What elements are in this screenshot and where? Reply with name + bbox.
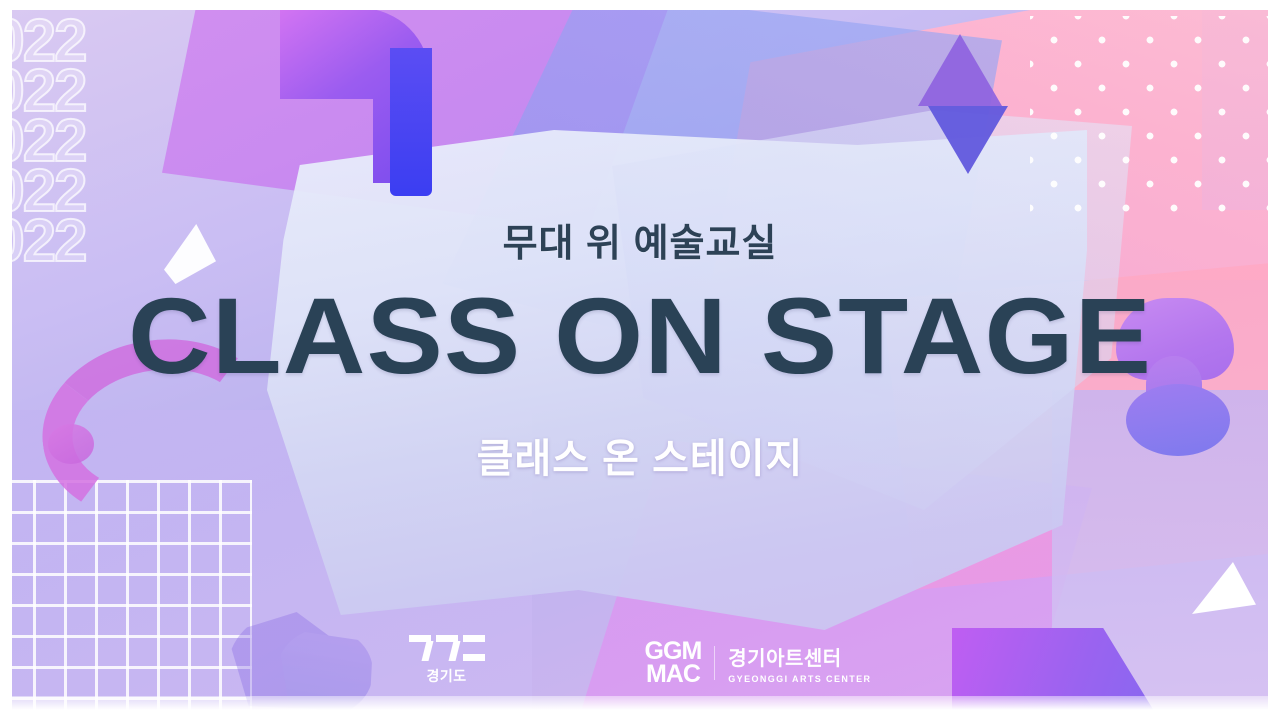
logo-divider: [714, 646, 715, 680]
subtitle-text: 클래스 온 스테이지: [477, 426, 804, 484]
poster-stage: 2022 2022 2022 2022 2022 무대 위 예술교실: [12, 10, 1268, 710]
gyeonggi-arts-center-logo: GGM MAC 경기아트센터 GYEONGGI ARTS CENTER: [645, 640, 872, 686]
ggac-name-en: GYEONGGI ARTS CENTER: [728, 674, 871, 684]
page-title: CLASS ON STAGE: [128, 281, 1152, 391]
gyeonggi-do-mark-icon: [409, 635, 485, 661]
gyeonggi-do-label: 경기도: [426, 666, 466, 686]
ggac-mark-icon: GGM MAC: [645, 640, 702, 686]
poster-canvas: 2022 2022 2022 2022 2022 무대 위 예술교실: [0, 0, 1280, 720]
ggac-mark-line2: MAC: [646, 663, 700, 686]
gyeonggi-do-logo: 경기도: [409, 635, 485, 686]
ggac-text-block: 경기아트센터 GYEONGGI ARTS CENTER: [728, 642, 871, 684]
title-block: 무대 위 예술교실 CLASS ON STAGE 클래스 온 스테이지: [12, 10, 1268, 710]
logo-row: 경기도 GGM MAC 경기아트센터 GYEONGGI ARTS CENTER: [12, 635, 1268, 686]
eyebrow-text: 무대 위 예술교실: [503, 212, 778, 267]
ggac-name-kr: 경기아트센터: [728, 642, 871, 671]
